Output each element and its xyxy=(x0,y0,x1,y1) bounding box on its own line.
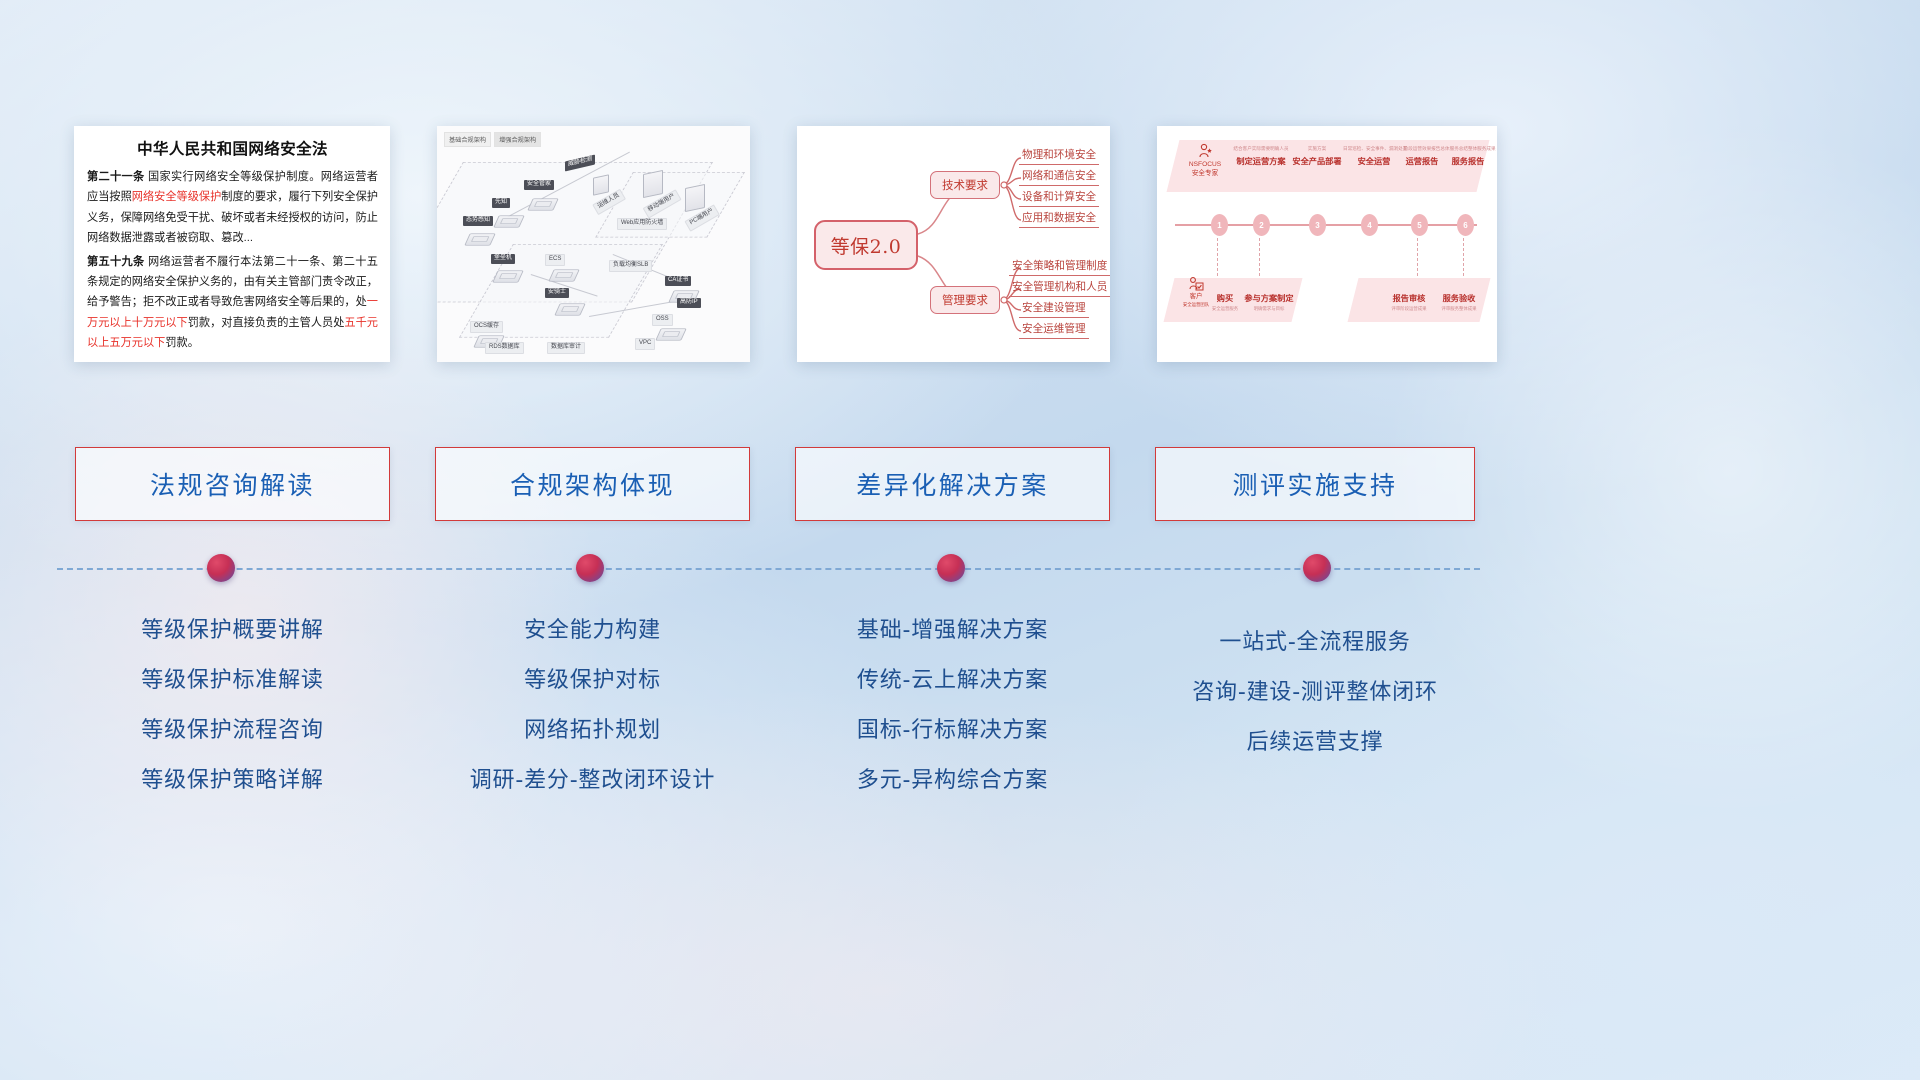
law-article-59: 第五十九条 网络运营者不履行本法第二十一条、第二十五条规定的网络安全保护义务的，… xyxy=(87,252,378,354)
law-article-21-highlight: 网络安全等级保护 xyxy=(132,191,222,203)
timeline-node-2: 2 xyxy=(1253,214,1270,236)
top-step-5-sub: 总体服务总结整体服务成果 xyxy=(1437,146,1497,152)
pillar-differentiated-solution[interactable]: 差异化解决方案 xyxy=(795,447,1110,521)
card-service-timeline: NSFOCUS 安全专家 结合客户实际需要明确人员 制定运营方案 实施方案 安全… xyxy=(1157,126,1497,362)
nsfocus-expert: NSFOCUS 安全专家 xyxy=(1181,143,1229,179)
timeline-top-step-5: 总体服务总结整体服务成果 服务报告 xyxy=(1437,146,1497,167)
list-item: 国标-行标解决方案 xyxy=(795,706,1110,756)
architecture-node: 运维人员 xyxy=(593,176,609,194)
card-cybersecurity-law: 中华人民共和国网络安全法 第二十一条 国家实行网络安全等级保护制度。网络运营者应… xyxy=(74,126,390,362)
top-step-2-sub: 实施方案 xyxy=(1285,146,1349,152)
tab-basic-compliance[interactable]: 基础合规架构 xyxy=(444,132,491,147)
list-item: 等级保护策略详解 xyxy=(75,756,390,806)
architecture-tabs: 基础合规架构 增强合规架构 xyxy=(444,132,541,147)
architecture-diagram: 基础合规架构 增强合规架构 威胁检测 安全管家 先知 xyxy=(437,126,750,362)
timeline-top-step-2: 实施方案 安全产品部署 xyxy=(1285,146,1349,167)
mindmap-leaf-application-data: 应用和数据安全 xyxy=(1019,210,1099,228)
architecture-node: 安全管家 xyxy=(524,180,556,213)
mindmap-branch-management: 管理要求 xyxy=(930,286,1000,314)
list-item: 等级保护流程咨询 xyxy=(75,706,390,756)
expert-line2: 安全专家 xyxy=(1181,170,1229,179)
node-label-rds-database: RDS数据库 xyxy=(485,342,524,354)
node-label-ecs: ECS xyxy=(545,254,565,266)
architecture-node: ECS xyxy=(545,254,577,284)
tab-enhanced-compliance[interactable]: 增强合规架构 xyxy=(494,132,541,147)
detail-column-2: 基础-增强解决方案 传统-云上解决方案 国标-行标解决方案 多元-异构综合方案 xyxy=(795,606,1110,806)
top-step-1-caption: 制定运营方案 xyxy=(1229,155,1293,167)
expert-person-icon xyxy=(1197,143,1214,160)
list-item: 一站式-全流程服务 xyxy=(1155,618,1475,668)
mindmap-leaf-device-computing: 设备和计算安全 xyxy=(1019,189,1099,207)
detail-column-1: 安全能力构建 等级保护对标 网络拓扑规划 调研-差分-整改闭环设计 xyxy=(435,606,750,806)
mindmap-leaf-physical-environment: 物理和环境安全 xyxy=(1019,147,1099,165)
pillar-regulation-consulting[interactable]: 法规咨询解读 xyxy=(75,447,390,521)
mindmap-branch-technical: 技术要求 xyxy=(930,171,1000,199)
node-label-bastion-host: 堡垒机 xyxy=(491,254,515,264)
node-label-anti-ddos-ip: 高防IP xyxy=(677,298,701,308)
bottom-step-2-caption: 参与方案制定 xyxy=(1241,292,1297,304)
architecture-node: OSS xyxy=(652,314,684,343)
detail-columns: 等级保护概要讲解 等级保护标准解读 等级保护流程咨询 等级保护策略详解 安全能力… xyxy=(0,606,1920,806)
list-item: 咨询-建设-测评整体闭环 xyxy=(1155,668,1475,718)
top-step-2-caption: 安全产品部署 xyxy=(1285,155,1349,167)
top-step-5-caption: 服务报告 xyxy=(1437,155,1497,167)
timeline-bottom-step-2: 参与方案制定 明确需求与目标 xyxy=(1241,292,1297,312)
list-item: 网络拓扑规划 xyxy=(435,706,750,756)
card-mindmap: 等保2.0 技术要求 管理要求 物理和环境安全 网络和通信安全 设备和计算安全 … xyxy=(797,126,1110,362)
detail-column-0: 等级保护概要讲解 等级保护标准解读 等级保护流程咨询 等级保护策略详解 xyxy=(75,606,390,806)
list-item: 基础-增强解决方案 xyxy=(795,606,1110,656)
bottom-step-4-caption: 服务验收 xyxy=(1435,292,1483,304)
list-item: 传统-云上解决方案 xyxy=(795,656,1110,706)
timeline-bottom-step-4: 服务验收 评审服务整体成果 xyxy=(1435,292,1483,312)
mindmap-root: 等保2.0 xyxy=(814,220,918,270)
timeline-marker-3 xyxy=(937,554,965,582)
architecture-node: 堡垒机 xyxy=(491,254,521,285)
mindmap: 等保2.0 技术要求 管理要求 物理和环境安全 网络和通信安全 设备和计算安全 … xyxy=(797,126,1110,362)
card-row: 中华人民共和国网络安全法 第二十一条 国家实行网络安全等级保护制度。网络运营者应… xyxy=(0,126,1920,364)
list-item: 后续运营支撑 xyxy=(1155,718,1475,768)
timeline-tick xyxy=(1259,238,1260,276)
mindmap-leaf-policy-system: 安全策略和管理制度 xyxy=(1009,258,1110,276)
timeline-marker-2 xyxy=(576,554,604,582)
node-label-database-audit: 数据库审计 xyxy=(547,342,585,354)
architecture-node: 移动端用户 xyxy=(643,172,663,196)
architecture-node: 先知 xyxy=(492,198,522,230)
list-item: 等级保护标准解读 xyxy=(75,656,390,706)
timeline-tick xyxy=(1463,238,1464,276)
timeline-node-6: 6 xyxy=(1457,214,1474,236)
service-timeline: NSFOCUS 安全专家 结合客户实际需要明确人员 制定运营方案 实施方案 安全… xyxy=(1157,126,1497,362)
architecture-node: 安骑士 xyxy=(545,288,583,318)
timeline-node-3: 3 xyxy=(1309,214,1326,236)
timeline-node-4: 4 xyxy=(1361,214,1378,236)
mindmap-leaf-org-personnel: 安全管理机构和人员 xyxy=(1009,279,1110,297)
node-label-ocs-cache: OCS缓存 xyxy=(470,321,503,333)
node-label-situational-awareness: 态势感知 xyxy=(463,216,493,226)
card-compliance-architecture: 基础合规架构 增强合规架构 威胁检测 安全管家 先知 xyxy=(437,126,750,362)
node-label-slb: 负载均衡SLB xyxy=(609,260,652,272)
bottom-step-1-sub: 安全运营服务 xyxy=(1205,306,1245,312)
architecture-node: 态势感知 xyxy=(463,216,493,248)
detail-column-3: 一站式-全流程服务 咨询-建设-测评整体闭环 后续运营支撑 xyxy=(1155,618,1475,768)
mindmap-leaf-ops-mgmt: 安全运维管理 xyxy=(1019,321,1089,339)
architecture-node: PC端用户 xyxy=(685,186,705,210)
pillar-0-title: 法规咨询解读 xyxy=(150,466,315,502)
law-article-59-number: 第五十九条 xyxy=(87,256,145,268)
timeline-bottom-step-1: 购买 安全运营服务 xyxy=(1205,292,1245,312)
law-article-21: 第二十一条 国家实行网络安全等级保护制度。网络运营者应当按照网络安全等级保护制度… xyxy=(87,167,378,249)
pillar-3-title: 测评实施支持 xyxy=(1232,466,1397,502)
mindmap-leaf-construction-mgmt: 安全建设管理 xyxy=(1019,300,1089,318)
mindmap-leaf-network-communication: 网络和通信安全 xyxy=(1019,168,1099,186)
node-label-oss: OSS xyxy=(652,314,673,326)
timeline-marker-1 xyxy=(207,554,235,582)
node-label-anqishi: 安骑士 xyxy=(545,288,569,298)
main-timeline-axis xyxy=(57,568,1480,570)
pillar-compliance-architecture[interactable]: 合规架构体现 xyxy=(435,447,750,521)
bottom-step-2-sub: 明确需求与目标 xyxy=(1241,306,1297,312)
bottom-step-4-sub: 评审服务整体成果 xyxy=(1435,306,1483,312)
pillar-assessment-support[interactable]: 测评实施支持 xyxy=(1155,447,1475,521)
law-article-59-seg-4: 罚款。 xyxy=(165,337,199,349)
timeline-node-5: 5 xyxy=(1411,214,1428,236)
bottom-step-1-caption: 购买 xyxy=(1205,292,1245,304)
pillar-1-title: 合规架构体现 xyxy=(510,466,675,502)
timeline-top-content: NSFOCUS 安全专家 结合客户实际需要明确人员 制定运营方案 实施方案 安全… xyxy=(1173,140,1485,192)
timeline-tick xyxy=(1417,238,1418,276)
law-title: 中华人民共和国网络安全法 xyxy=(87,137,378,159)
list-item: 调研-差分-整改闭环设计 xyxy=(435,756,750,806)
timeline-node-1: 1 xyxy=(1211,214,1228,236)
list-item: 等级保护对标 xyxy=(435,656,750,706)
bottom-step-3-caption: 报告审核 xyxy=(1385,292,1433,304)
timeline-top-step-1: 结合客户实际需要明确人员 制定运营方案 xyxy=(1229,146,1293,167)
node-label-security-housekeeper: 安全管家 xyxy=(524,180,554,190)
top-step-1-sub: 结合客户实际需要明确人员 xyxy=(1229,146,1293,152)
list-item: 多元-异构综合方案 xyxy=(795,756,1110,806)
list-item: 等级保护概要讲解 xyxy=(75,606,390,656)
timeline-marker-4 xyxy=(1303,554,1331,582)
bottom-step-3-sub: 评审阶段运营成果 xyxy=(1385,306,1433,312)
expert-line1: NSFOCUS xyxy=(1181,161,1229,170)
timeline-tick xyxy=(1217,238,1218,276)
pillar-row: 法规咨询解读 合规架构体现 差异化解决方案 测评实施支持 xyxy=(0,447,1920,523)
law-article-21-number: 第二十一条 xyxy=(87,171,145,183)
timeline-bottom-step-3: 报告审核 评审阶段运营成果 xyxy=(1385,292,1433,312)
list-item: 安全能力构建 xyxy=(435,606,750,656)
node-label-waf: Web应用防火墙 xyxy=(617,218,667,230)
pillar-2-title: 差异化解决方案 xyxy=(856,466,1049,502)
customer-person-icon xyxy=(1188,276,1204,292)
law-article-59-seg-2: 罚款，对直接负责的主管人员处 xyxy=(188,317,345,329)
node-label-ca-certificate: CA证书 xyxy=(665,276,691,286)
node-label-xianzhi: 先知 xyxy=(492,198,510,208)
node-label-vpc: VPC xyxy=(635,338,655,350)
